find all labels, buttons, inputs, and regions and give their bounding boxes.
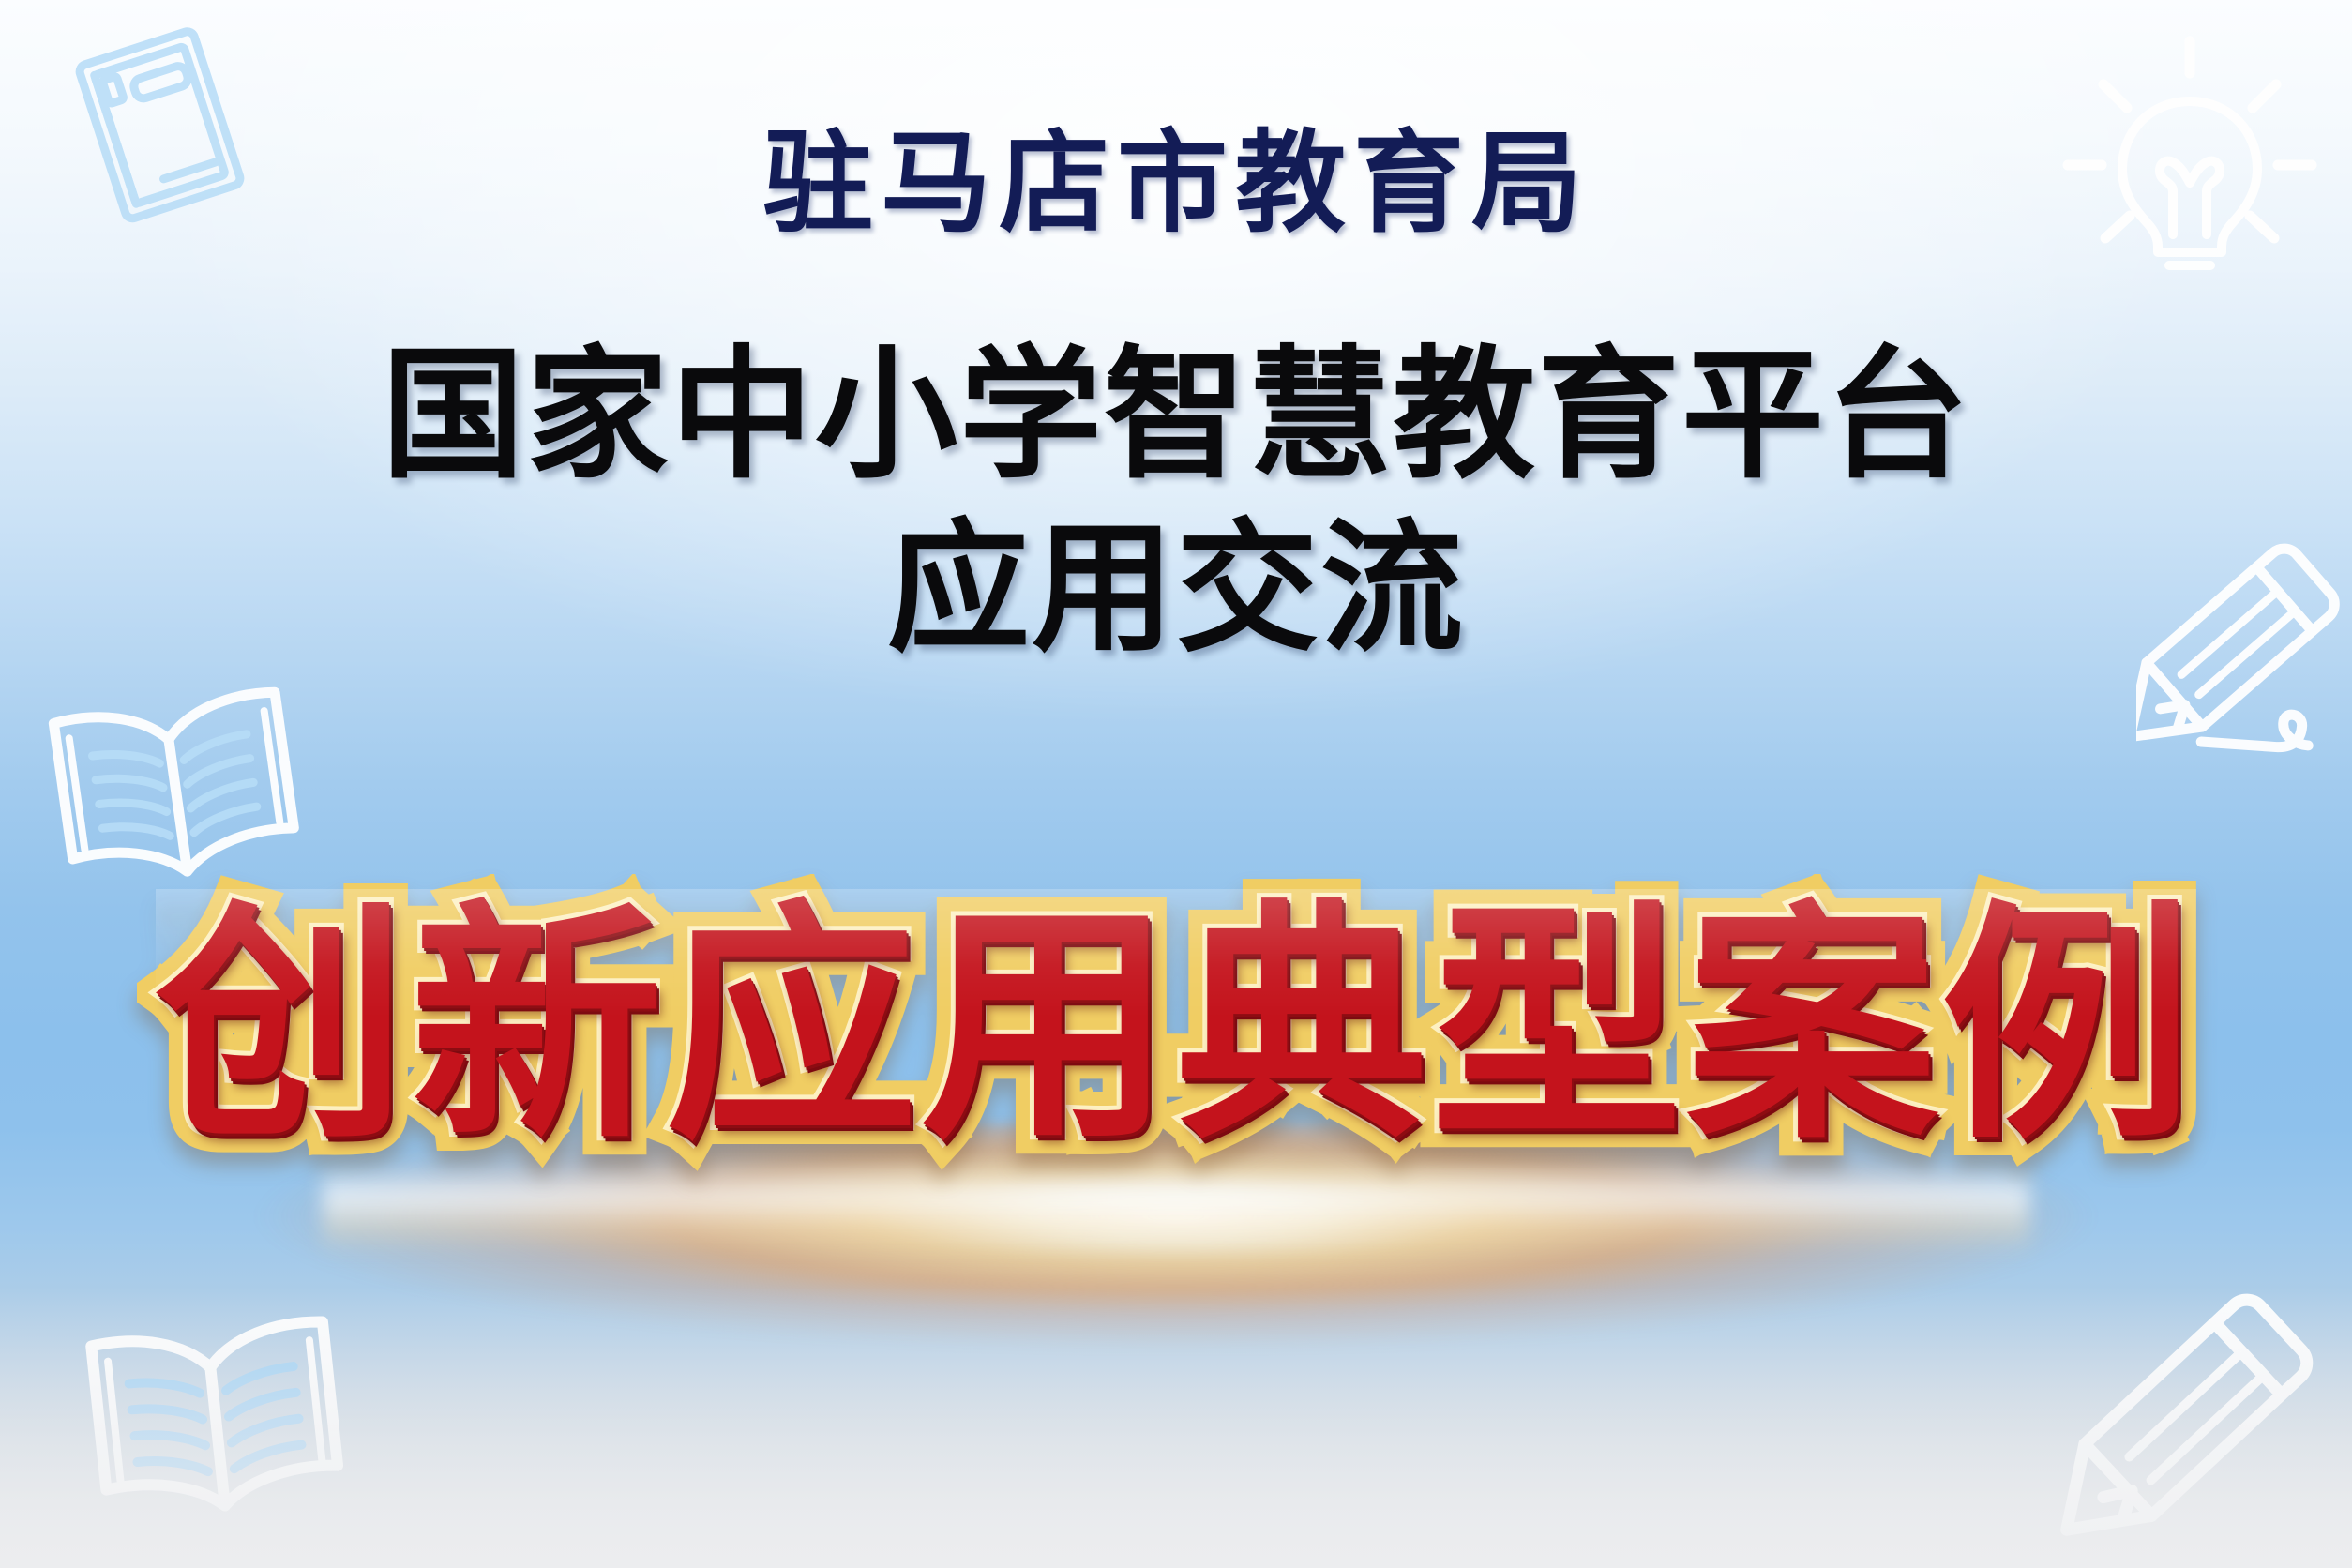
open-book-icon — [75, 1305, 356, 1530]
banner: 创新应用典型案例创新应用典型案例 — [0, 889, 2352, 1292]
banner-headline: 创新应用典型案例创新应用典型案例 — [0, 889, 2352, 1166]
page-title: 国家中小学智慧教育平台 应用交流 — [0, 328, 2352, 676]
poster-canvas: 驻马店市教育局 国家中小学智慧教育平台 应用交流 创新应用典型案例创新应用典型案… — [0, 0, 2352, 1568]
open-book-icon — [39, 679, 311, 895]
bottom-haze — [0, 1287, 2352, 1568]
page-title-line-1: 国家中小学智慧教育平台 — [0, 328, 2352, 502]
banner-headline-gold-shell: 创新应用典型案例创新应用典型案例 — [156, 889, 2196, 1166]
banner-headline-red-face: 创新应用典型案例 — [156, 889, 2196, 1166]
banner-glow-streak — [323, 1163, 2029, 1253]
page-title-line-2: 应用交流 — [0, 502, 2352, 675]
organization-name: 驻马店市教育局 — [0, 129, 2352, 240]
pencil-icon — [2056, 1275, 2337, 1557]
